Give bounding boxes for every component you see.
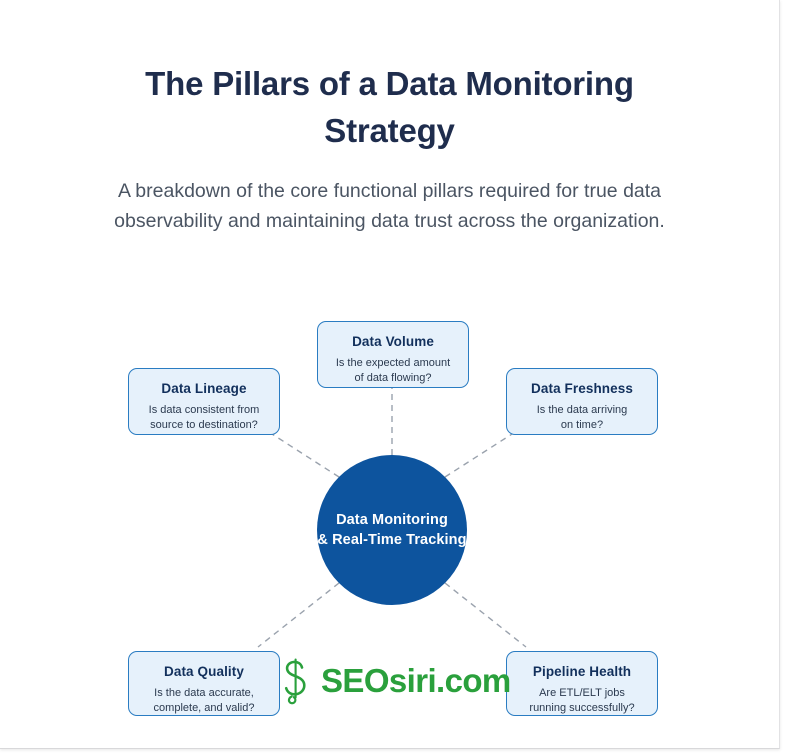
page-card: The Pillars of a Data Monitoring Strateg… xyxy=(0,0,780,749)
pillar-description: Is the data accurate, complete, and vali… xyxy=(129,686,279,715)
pillar-description-line2: of data flowing? xyxy=(354,372,431,384)
pillar-node-data-volume[interactable]: Data Volume Is the expected amount of da… xyxy=(317,321,469,388)
pillar-description: Is the expected amount of data flowing? xyxy=(318,356,468,385)
seosiri-s-monogram-icon xyxy=(278,657,312,705)
connector-line-data-quality xyxy=(258,583,339,647)
pillar-node-data-lineage[interactable]: Data Lineage Is data consistent from sou… xyxy=(128,368,280,435)
pillar-description-line1: Is data consistent from xyxy=(149,404,260,416)
pillar-description: Is the data arriving on time? xyxy=(507,403,657,432)
pillar-title: Data Volume xyxy=(318,333,468,350)
pillar-description-line1: Is the data arriving xyxy=(537,404,628,416)
hub-label-line1: Data Monitoring xyxy=(336,512,448,528)
pillar-description-line2: on time? xyxy=(561,419,603,431)
pillar-node-data-quality[interactable]: Data Quality Is the data accurate, compl… xyxy=(128,651,280,716)
pillar-description-line2: running successfully? xyxy=(529,702,634,714)
pillar-title: Data Quality xyxy=(129,663,279,680)
hub-circle-data-monitoring[interactable]: Data Monitoring & Real-Time Tracking xyxy=(317,455,467,605)
pillar-node-data-freshness[interactable]: Data Freshness Is the data arriving on t… xyxy=(506,368,658,435)
pillar-title: Data Lineage xyxy=(129,380,279,397)
header: The Pillars of a Data Monitoring Strateg… xyxy=(0,0,779,236)
pillar-description: Is data consistent from source to destin… xyxy=(129,403,279,432)
pillar-description-line1: Is the expected amount xyxy=(336,357,450,369)
pillar-description-line2: complete, and valid? xyxy=(154,702,255,714)
page-subtitle: A breakdown of the core functional pilla… xyxy=(0,154,779,236)
hub-label: Data Monitoring & Real-Time Tracking xyxy=(317,510,466,550)
pillar-description-line2: source to destination? xyxy=(150,419,258,431)
pillar-title: Pipeline Health xyxy=(507,663,657,680)
watermark-text: SEOsiri.com xyxy=(321,664,511,698)
connector-line-pipeline-health xyxy=(445,583,526,647)
page-title: The Pillars of a Data Monitoring Strateg… xyxy=(0,0,779,154)
pillar-description-line1: Are ETL/ELT jobs xyxy=(539,687,625,699)
pillar-title: Data Freshness xyxy=(507,380,657,397)
pillar-node-pipeline-health[interactable]: Pipeline Health Are ETL/ELT jobs running… xyxy=(506,651,658,716)
hub-label-line2: & Real-Time Tracking xyxy=(317,532,466,548)
watermark-seosiri: SEOsiri.com xyxy=(278,657,511,705)
pillar-description-line1: Is the data accurate, xyxy=(154,687,254,699)
pillar-description: Are ETL/ELT jobs running successfully? xyxy=(507,686,657,715)
